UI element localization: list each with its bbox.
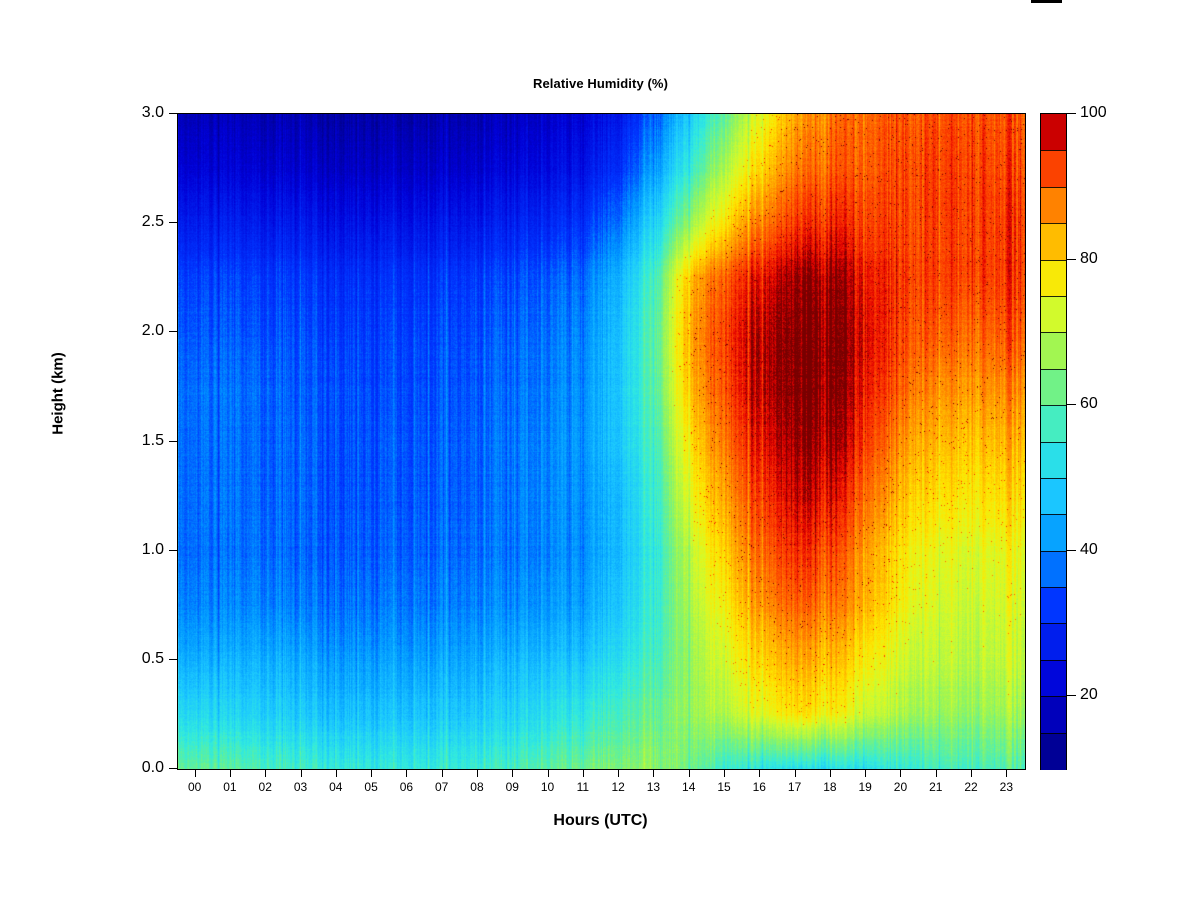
x-axis-tick-marks [177,769,1024,778]
colorbar-tick-mark [1067,259,1076,260]
colorbar-band-separator [1041,733,1066,734]
colorbar-tick-label: 60 [1080,395,1098,413]
colorbar-tick-labels: 10080604020 [1067,113,1137,768]
x-tick-mark [477,769,478,777]
x-tick-mark [301,769,302,777]
relative-humidity-heatmap[interactable] [178,114,1025,769]
colorbar-tick-label: 20 [1080,686,1098,704]
x-tick-label: 07 [435,780,448,794]
colorbar-band [1041,551,1066,588]
colorbar-tick-mark [1067,113,1076,114]
colorbar-tick-label: 40 [1080,541,1098,559]
y-tick-label: 1.5 [142,432,164,450]
colorbar-band-separator [1041,442,1066,443]
x-tick-label: 20 [894,780,907,794]
colorbar-band [1041,405,1066,442]
x-tick-mark [865,769,866,777]
x-tick-mark [442,769,443,777]
x-tick-label: 23 [1000,780,1013,794]
x-tick-mark [195,769,196,777]
x-tick-mark [759,769,760,777]
colorbar-band [1041,514,1066,551]
colorbar-band-separator [1041,223,1066,224]
colorbar-band [1041,442,1066,479]
colorbar-band [1041,369,1066,406]
x-tick-label: 18 [823,780,836,794]
colorbar-band-separator [1041,623,1066,624]
colorbar-band-separator [1041,332,1066,333]
x-tick-label: 00 [188,780,201,794]
x-tick-mark [724,769,725,777]
x-tick-mark [618,769,619,777]
colorbar-band [1041,114,1066,151]
x-axis-tick-labels: 0001020304050607080910111213141516171819… [177,780,1024,800]
x-tick-label: 19 [859,780,872,794]
colorbar-band [1041,660,1066,697]
x-tick-label: 04 [329,780,342,794]
x-tick-label: 01 [223,780,236,794]
colorbar-band [1041,733,1066,770]
x-tick-mark [512,769,513,777]
y-tick-mark [169,768,177,769]
y-axis-label: Height (km) [50,314,67,474]
colorbar-band [1041,223,1066,260]
colorbar-band [1041,332,1066,369]
x-tick-mark [548,769,549,777]
y-tick-mark [169,441,177,442]
colorbar-band [1041,260,1066,297]
x-axis-label: Hours (UTC) [177,812,1024,830]
x-tick-mark [689,769,690,777]
colorbar-band [1041,478,1066,515]
x-tick-mark [795,769,796,777]
heatmap-plot-area[interactable] [177,113,1026,770]
colorbar[interactable] [1040,113,1067,770]
x-tick-label: 22 [964,780,977,794]
x-tick-mark [230,769,231,777]
x-tick-label: 17 [788,780,801,794]
x-tick-mark [406,769,407,777]
x-tick-mark [653,769,654,777]
x-tick-label: 14 [682,780,695,794]
y-tick-mark [169,331,177,332]
x-tick-mark [1006,769,1007,777]
y-axis-tick-labels: 0.00.51.01.52.02.53.0 [100,113,164,768]
colorbar-band [1041,150,1066,187]
y-tick-mark [169,113,177,114]
x-tick-label: 16 [753,780,766,794]
colorbar-band [1041,696,1066,733]
colorbar-band [1041,187,1066,224]
x-tick-mark [936,769,937,777]
y-tick-label: 0.5 [142,650,164,668]
colorbar-band [1041,587,1066,624]
x-tick-mark [336,769,337,777]
colorbar-band-separator [1041,587,1066,588]
colorbar-band-separator [1041,296,1066,297]
x-tick-label: 05 [364,780,377,794]
colorbar-tick-mark [1067,404,1076,405]
colorbar-band [1041,623,1066,660]
colorbar-band-separator [1041,187,1066,188]
y-tick-mark [169,659,177,660]
y-tick-label: 0.0 [142,759,164,777]
x-tick-label: 03 [294,780,307,794]
x-tick-label: 08 [470,780,483,794]
colorbar-band-separator [1041,260,1066,261]
y-tick-label: 1.0 [142,541,164,559]
x-tick-label: 10 [541,780,554,794]
colorbar-band-separator [1041,696,1066,697]
x-tick-mark [583,769,584,777]
x-tick-mark [371,769,372,777]
y-tick-label: 2.5 [142,213,164,231]
x-tick-label: 12 [611,780,624,794]
colorbar-band-separator [1041,660,1066,661]
y-tick-label: 2.0 [142,322,164,340]
colorbar-band-separator [1041,369,1066,370]
colorbar-band-separator [1041,514,1066,515]
x-tick-mark [830,769,831,777]
y-tick-mark [169,550,177,551]
colorbar-tick-mark [1067,695,1076,696]
humidity-time-height-figure: Relative Humidity (%) Height (km) 0.00.5… [0,0,1200,900]
colorbar-tick-label: 80 [1080,250,1098,268]
y-tick-mark [169,222,177,223]
x-tick-label: 09 [506,780,519,794]
x-tick-label: 06 [400,780,413,794]
x-tick-mark [971,769,972,777]
top-edge-artifact [1031,0,1062,3]
x-tick-label: 11 [577,780,589,794]
x-tick-label: 13 [647,780,660,794]
page-title: Relative Humidity (%) [177,76,1024,91]
x-tick-label: 02 [259,780,272,794]
colorbar-band-separator [1041,478,1066,479]
colorbar-band-separator [1041,150,1066,151]
colorbar-band-separator [1041,405,1066,406]
x-tick-mark [900,769,901,777]
x-tick-mark [265,769,266,777]
x-tick-label: 15 [717,780,730,794]
colorbar-tick-mark [1067,550,1076,551]
colorbar-tick-label: 100 [1080,104,1107,122]
y-tick-label: 3.0 [142,104,164,122]
x-tick-label: 21 [929,780,942,794]
colorbar-band-separator [1041,551,1066,552]
colorbar-band [1041,296,1066,333]
